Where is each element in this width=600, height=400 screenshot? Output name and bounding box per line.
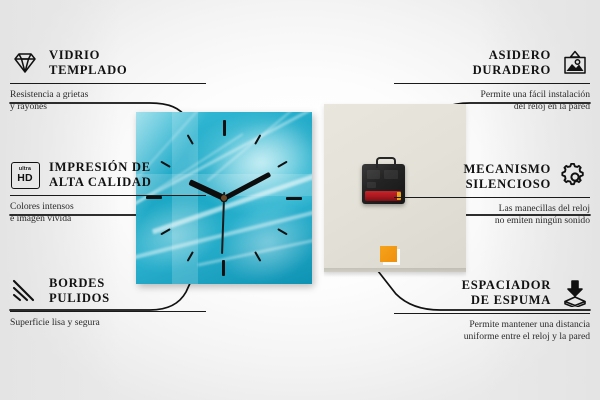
feature-divider [394,197,590,198]
foam-spacer-pad [380,246,397,262]
feature-description: Permite mantener una distancia uniforme … [394,319,590,344]
feature-description: Colores intensos e imagen vívida [10,201,206,226]
foam-spacer-arrow-icon [560,278,590,308]
feature-divider [10,311,206,312]
feature-divider [10,83,206,84]
feature-header: ESPACIADOR DE ESPUMA [394,278,590,309]
movement-detail [367,170,380,179]
ultra-hd-badge: ultra HD [11,162,40,189]
feature-description: Superficie lisa y segura [10,317,206,330]
wall-hanging-frame-icon [560,48,590,78]
feature-divider [10,195,206,196]
ultra-hd-badge-large-text: HD [17,173,33,184]
feature-header: VIDRIO TEMPLADO [10,48,206,79]
feature-title: BORDES PULIDOS [49,276,110,307]
feature-divider [394,83,590,84]
feature-mecanismo-silencioso: MECANISMO SILENCIOSO Las manecillas del … [394,162,590,228]
feature-vidrio-templado: VIDRIO TEMPLADO Resistencia a grietas y … [10,48,206,114]
gear-icon [560,162,590,192]
feature-title: ESPACIADOR DE ESPUMA [462,278,551,309]
feature-title: VIDRIO TEMPLADO [49,48,127,79]
feature-description: Permite una fácil instalación del reloj … [394,89,590,114]
feature-description: Resistencia a grietas y rayones [10,89,206,114]
feature-header: MECANISMO SILENCIOSO [394,162,590,193]
infographic-canvas: VIDRIO TEMPLADO Resistencia a grietas y … [0,0,600,400]
feature-header: ASIDERO DURADERO [394,48,590,79]
diamond-icon [10,48,40,78]
polished-edges-icon [10,276,40,306]
feature-asidero-duradero: ASIDERO DURADERO Permite una fácil insta… [394,48,590,114]
feature-header: BORDES PULIDOS [10,276,206,307]
back-panel-shadow [324,268,466,277]
feature-header: ultra HD IMPRESIÓN DE ALTA CALIDAD [10,160,206,191]
feature-bordes-pulidos: BORDES PULIDOS Superficie lisa y segura [10,276,206,329]
feature-title: ASIDERO DURADERO [473,48,551,79]
ultra-hd-badge-icon: ultra HD [10,160,40,190]
feature-title: MECANISMO SILENCIOSO [464,162,551,193]
feature-description: Las manecillas del reloj no emiten ningú… [394,203,590,228]
feature-impresion-alta-calidad: ultra HD IMPRESIÓN DE ALTA CALIDAD Color… [10,160,206,226]
feature-espaciador-de-espuma: ESPACIADOR DE ESPUMA Permite mantener un… [394,278,590,344]
feature-title: IMPRESIÓN DE ALTA CALIDAD [49,160,152,191]
movement-hanger-loop [376,157,396,168]
feature-divider [394,313,590,314]
clock-center-cap [221,195,227,201]
movement-detail [367,182,376,188]
